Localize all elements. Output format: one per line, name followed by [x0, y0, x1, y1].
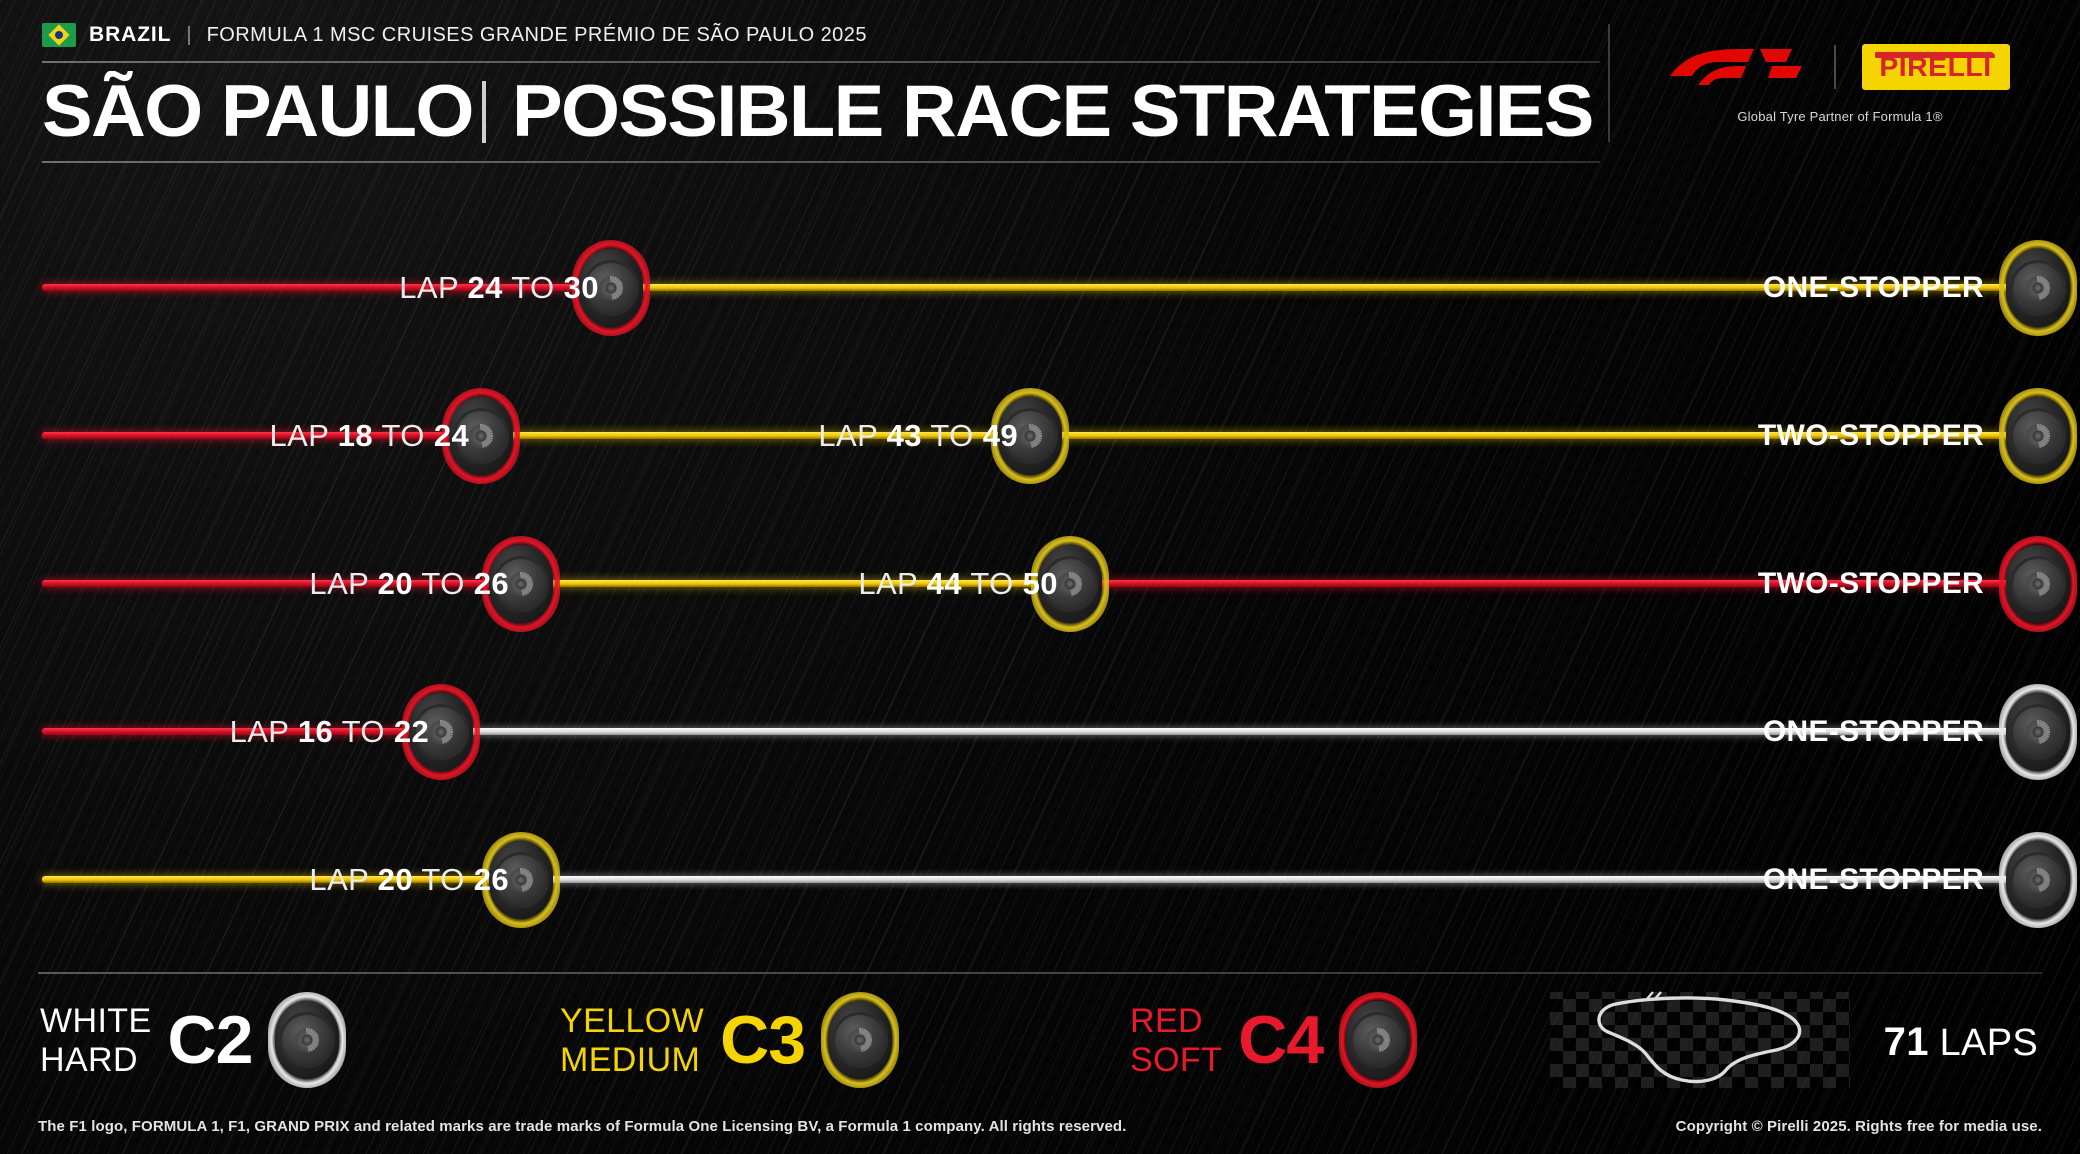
legend-compound-code: C2 [168, 1001, 253, 1079]
strategy-row: LAP 16 TO 22ONE-STOPPER [0, 654, 2080, 802]
logo-group: PIRELLI [1640, 36, 2040, 98]
legend-tyre-wrapper [268, 992, 346, 1088]
legend-tyre-wrapper [1339, 992, 1417, 1088]
strategy-row: LAP 18 TO 24LAP 43 TO 49TWO-STOPPER [0, 358, 2080, 506]
legend-compound-name: MEDIUM [560, 1043, 704, 1077]
strategy-track: LAP 18 TO 24LAP 43 TO 49TWO-STOPPER [42, 432, 2038, 439]
header-rule-bottom [42, 161, 1600, 163]
legend-divider [38, 972, 2042, 974]
strategy-rows: LAP 24 TO 30ONE-STOPPERLAP 18 TO 24LAP 4… [0, 172, 2080, 972]
legend-colour-name: YELLOW [560, 1004, 704, 1038]
legend: WHITEHARDC2YELLOWMEDIUMC3REDSOFTC4 71 LA… [0, 972, 2080, 1108]
legend-item-words: REDSOFT [1130, 1004, 1222, 1077]
strategy-track: LAP 20 TO 26ONE-STOPPER [42, 876, 2038, 883]
pirelli-wordmark: PIRELLI [1880, 52, 1992, 83]
pit-window-label: LAP 20 TO 26 [309, 566, 521, 602]
strategy-row: LAP 20 TO 26ONE-STOPPER [0, 802, 2080, 950]
finish-tyre-medium [1999, 240, 2077, 336]
brazil-flag-icon [42, 23, 76, 47]
legend-item-medium: YELLOWMEDIUMC3 [560, 994, 899, 1086]
infographic-canvas: BRAZIL | FORMULA 1 MSC CRUISES GRANDE PR… [0, 0, 2080, 1154]
race-name-label: FORMULA 1 MSC CRUISES GRANDE PRÉMIO DE S… [207, 24, 867, 47]
title-divider [482, 81, 486, 143]
lap-count-word: LAPS [1940, 1022, 2038, 1064]
legend-compound-name: HARD [40, 1043, 152, 1077]
logo-divider [1834, 45, 1836, 89]
pit-window-label: LAP 24 TO 30 [399, 270, 611, 306]
header-rule-top [42, 61, 1600, 63]
header: BRAZIL | FORMULA 1 MSC CRUISES GRANDE PR… [0, 0, 2080, 172]
pit-window-label: LAP 16 TO 22 [230, 714, 442, 750]
footer-copyright-text: Copyright © Pirelli 2025. Rights free fo… [1676, 1118, 2042, 1135]
header-right: PIRELLI Global Tyre Partner of Formula 1… [1640, 36, 2040, 148]
footer-trademark-text: The F1 logo, FORMULA 1, F1, GRAND PRIX a… [38, 1118, 1126, 1135]
finish-tyre-hard [1999, 684, 2077, 780]
strategy-row: LAP 20 TO 26LAP 44 TO 50TWO-STOPPER [0, 506, 2080, 654]
finish-tyre-medium [1999, 388, 2077, 484]
circuit-map-icon [1550, 986, 1850, 1094]
strategy-row: LAP 24 TO 30ONE-STOPPER [0, 210, 2080, 358]
stopper-label: ONE-STOPPER [1763, 863, 1998, 897]
stopper-label: TWO-STOPPER [1758, 567, 1998, 601]
finish-tyre-hard [1999, 832, 2077, 928]
breadcrumb: BRAZIL | FORMULA 1 MSC CRUISES GRANDE PR… [42, 18, 1602, 52]
title-subject: POSSIBLE RACE STRATEGIES [512, 75, 1593, 149]
strategy-track: LAP 20 TO 26LAP 44 TO 50TWO-STOPPER [42, 580, 2038, 587]
stopper-label: ONE-STOPPER [1763, 271, 1998, 305]
f1-logo-icon [1668, 45, 1808, 89]
legend-colour-name: RED [1130, 1004, 1222, 1038]
header-left: BRAZIL | FORMULA 1 MSC CRUISES GRANDE PR… [42, 18, 1602, 163]
pirelli-logo-icon: PIRELLI [1862, 44, 2010, 90]
legend-item-words: WHITEHARD [40, 1004, 152, 1077]
pit-window-label: LAP 44 TO 50 [858, 566, 1070, 602]
stopper-label: ONE-STOPPER [1763, 715, 1998, 749]
legend-compound-code: C3 [720, 1001, 805, 1079]
lap-count: 71 LAPS [1884, 1020, 2038, 1065]
breadcrumb-separator: | [186, 24, 191, 47]
stopper-label: TWO-STOPPER [1758, 419, 1998, 453]
page-title: SÃO PAULO POSSIBLE RACE STRATEGIES [42, 75, 1602, 149]
pit-window-label: LAP 18 TO 24 [270, 418, 482, 454]
legend-tyre-hard [268, 992, 346, 1088]
lap-count-number: 71 [1884, 1020, 1929, 1064]
footer: The F1 logo, FORMULA 1, F1, GRAND PRIX a… [0, 1112, 2080, 1154]
strategy-track: LAP 16 TO 22ONE-STOPPER [42, 728, 2038, 735]
legend-tyre-soft [1339, 992, 1417, 1088]
legend-item-hard: WHITEHARDC2 [40, 994, 346, 1086]
header-vertical-divider [1608, 24, 1610, 142]
legend-item-words: YELLOWMEDIUM [560, 1004, 704, 1077]
finish-tyre-soft [1999, 536, 2077, 632]
legend-colour-name: WHITE [40, 1004, 152, 1038]
legend-compound-name: SOFT [1130, 1043, 1222, 1077]
legend-tyre-medium [821, 992, 899, 1088]
pit-window-label: LAP 43 TO 49 [818, 418, 1030, 454]
pit-window-label: LAP 20 TO 26 [309, 862, 521, 898]
legend-tyre-wrapper [821, 992, 899, 1088]
strategy-track: LAP 24 TO 30ONE-STOPPER [42, 284, 2038, 291]
title-location: SÃO PAULO [42, 75, 473, 149]
legend-item-soft: REDSOFTC4 [1130, 994, 1417, 1086]
country-label: BRAZIL [89, 23, 171, 47]
legend-compound-code: C4 [1238, 1001, 1323, 1079]
partner-tagline: Global Tyre Partner of Formula 1® [1640, 109, 2040, 124]
